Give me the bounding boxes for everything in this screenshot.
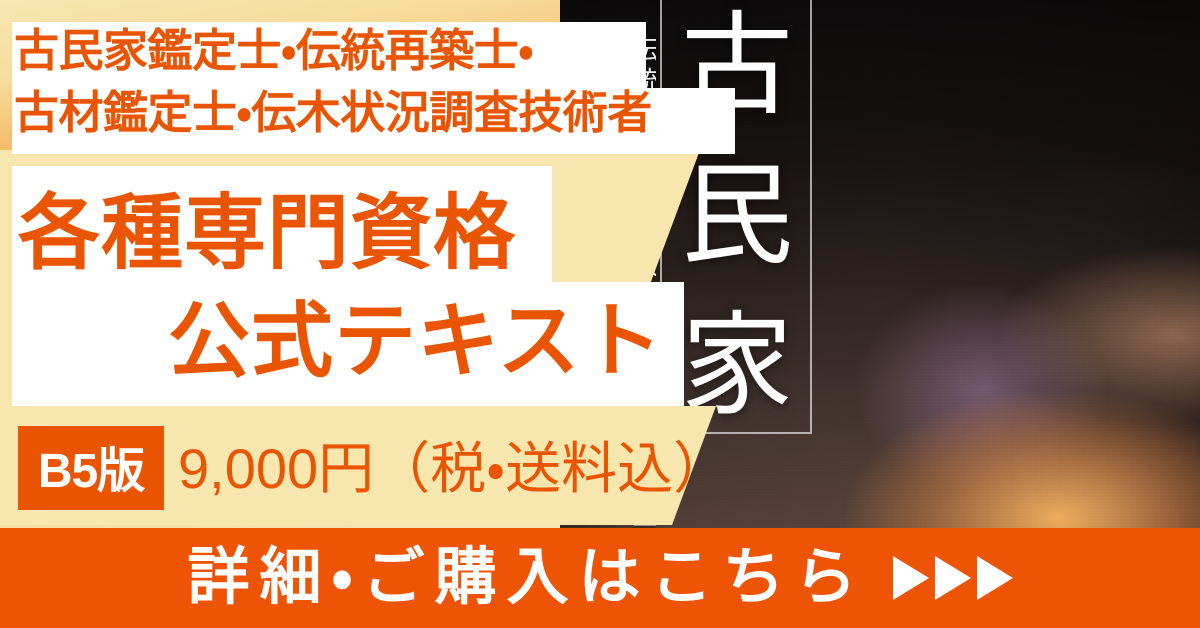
cta-bar[interactable]: 詳細・ご購入はこちら bbox=[0, 528, 1200, 628]
triangle-right-icon bbox=[935, 556, 971, 600]
cta-inner[interactable]: 詳細・ご購入はこちら bbox=[187, 547, 1012, 609]
qualifications-text: 古民家鑑定士・伝統再築士・ 古材鑑定士・伝木状況調査技術者 bbox=[14, 20, 734, 144]
headline-line-2: 公式テキスト bbox=[18, 288, 698, 396]
headline-line-1: 各種専門資格 bbox=[18, 180, 698, 288]
cta-label[interactable]: 詳細・ご購入はこちら bbox=[187, 547, 866, 609]
price-text: 9,000円（税・送料込） bbox=[178, 430, 729, 508]
triangle-right-icon bbox=[893, 556, 929, 600]
format-badge: B5版 bbox=[18, 426, 164, 510]
headline-text: 各種専門資格 公式テキスト bbox=[18, 180, 698, 396]
cta-arrows bbox=[893, 556, 1013, 600]
qualifications-line-1: 古民家鑑定士・伝統再築士・ bbox=[14, 20, 734, 82]
promo-banner: 古 民 家 伝統構法、古民家活用のための調査と再生の 古民家鑑定士・伝統再築士・… bbox=[0, 0, 1200, 628]
qualifications-line-2: 古材鑑定士・伝木状況調査技術者 bbox=[14, 82, 734, 144]
triangle-right-icon bbox=[977, 556, 1013, 600]
